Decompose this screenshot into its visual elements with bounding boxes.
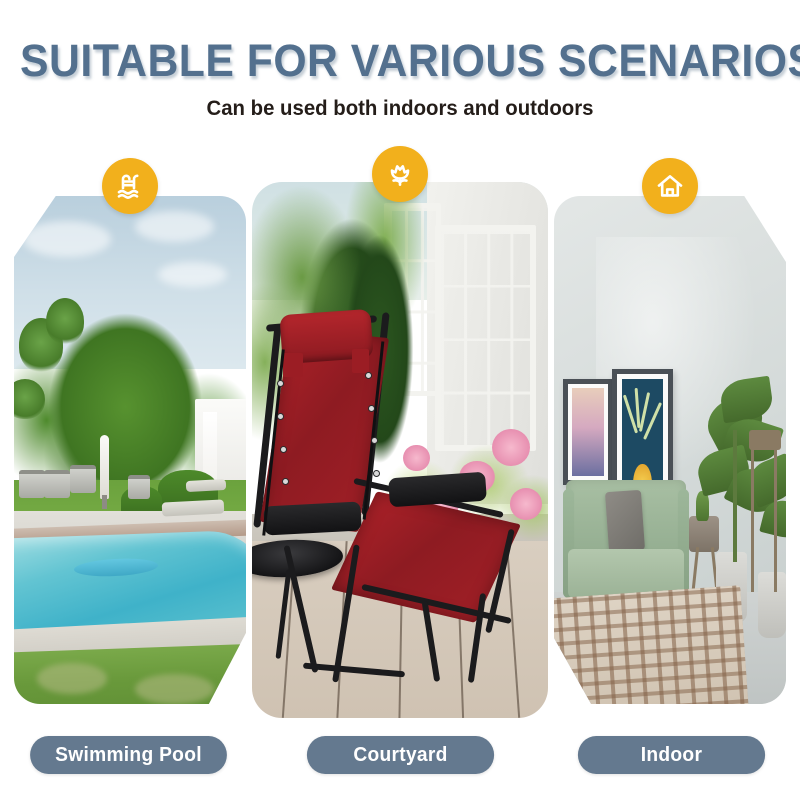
sun-lounger xyxy=(162,499,225,516)
framed-artwork xyxy=(563,379,612,486)
plant-pot xyxy=(758,572,786,638)
lacing-grommet xyxy=(369,406,374,411)
lacing-grommet xyxy=(374,471,379,476)
pool-ladder-waves-icon xyxy=(102,158,158,214)
cloud-icon xyxy=(23,221,111,257)
plant-stand-shelf xyxy=(749,430,781,450)
courtyard-scene xyxy=(252,182,548,718)
grass-patch xyxy=(37,663,107,693)
headrest-strap xyxy=(283,353,303,377)
scenario-panels xyxy=(0,0,800,800)
headrest-strap xyxy=(352,349,369,373)
caption-indoor[interactable]: Indoor xyxy=(578,736,765,774)
flower-tulip-icon xyxy=(372,146,428,202)
lacing-grommet xyxy=(278,414,283,419)
throw-pillow xyxy=(605,490,645,553)
scenario-image-indoor[interactable] xyxy=(554,196,786,704)
chair-armrest-right xyxy=(388,472,486,507)
chair-foot-rail xyxy=(303,662,405,677)
product-feature-banner: SUITABLE FOR VARIOUS SCENARIOS Can be us… xyxy=(0,0,800,800)
grass-patch xyxy=(135,674,214,704)
cloud-icon xyxy=(135,211,214,241)
palm-tree xyxy=(46,298,84,344)
chair-side-tray-table xyxy=(252,537,344,579)
plant-stand-leg xyxy=(751,440,754,592)
pool-scene xyxy=(14,196,246,704)
plant-stand-leg xyxy=(774,440,777,592)
house-icon xyxy=(642,158,698,214)
zero-gravity-recliner-chair xyxy=(258,300,542,707)
palm-trunk xyxy=(733,430,737,562)
patio-umbrella xyxy=(100,435,109,499)
caption-swimming-pool[interactable]: Swimming Pool xyxy=(30,736,227,774)
lacing-grommet xyxy=(281,447,286,452)
tray-table-leg xyxy=(275,569,291,659)
side-table xyxy=(689,516,719,552)
patio-chair xyxy=(44,470,70,498)
artwork-leaf xyxy=(635,388,641,428)
caption-courtyard[interactable]: Courtyard xyxy=(307,736,494,774)
indoor-scene xyxy=(554,196,786,704)
artwork-canvas xyxy=(622,379,663,491)
chair-armrest-left xyxy=(263,501,361,535)
scenario-image-courtyard[interactable] xyxy=(252,182,548,718)
patio-chair xyxy=(70,465,96,493)
area-rug xyxy=(554,585,749,704)
patio-chair xyxy=(128,475,150,499)
scenario-image-swimming-pool[interactable] xyxy=(14,196,246,704)
caption-label: Indoor xyxy=(641,744,702,767)
caption-label: Swimming Pool xyxy=(55,744,202,767)
artwork-canvas xyxy=(572,388,603,477)
patio-chair xyxy=(19,470,45,498)
caption-label: Courtyard xyxy=(353,744,447,767)
